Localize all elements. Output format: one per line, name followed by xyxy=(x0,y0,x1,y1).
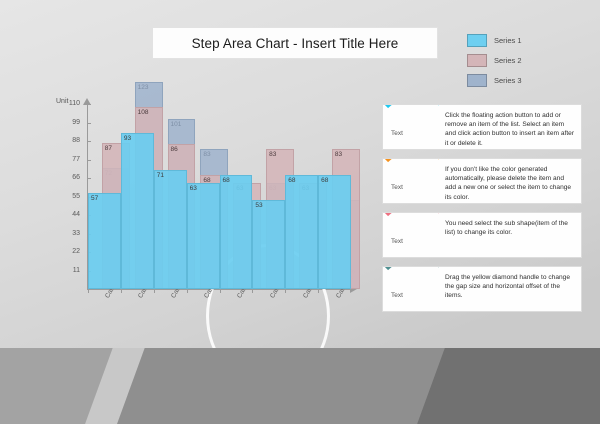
y-tick-label: 33 xyxy=(56,230,80,237)
x-tick-mark xyxy=(88,289,89,293)
chart-title-box[interactable]: Step Area Chart - Insert Title Here xyxy=(152,27,438,59)
chart-legend: Series 1Series 2Series 3 xyxy=(467,34,587,94)
legend-item-2[interactable]: Series 2 xyxy=(467,54,587,67)
y-tick-label: 44 xyxy=(56,211,80,218)
data-label: 123 xyxy=(138,84,149,92)
slide-canvas: Step Area Chart - Insert Title Here Seri… xyxy=(0,0,600,424)
data-label: 63 xyxy=(190,185,197,193)
legend-item-3[interactable]: Series 3 xyxy=(467,74,587,87)
legend-label: Series 3 xyxy=(494,76,522,85)
y-tick-label: 99 xyxy=(56,119,80,126)
area-segment[interactable]: 68 xyxy=(285,175,318,289)
road-band-3 xyxy=(105,348,452,424)
y-tick-label: 88 xyxy=(56,137,80,144)
x-tick-mark xyxy=(252,289,253,293)
callout-card-1[interactable]: TextClick the floating action button to … xyxy=(382,104,582,150)
legend-item-1[interactable]: Series 1 xyxy=(467,34,587,47)
callout-badge-label: Text xyxy=(391,238,403,245)
legend-swatch-icon xyxy=(467,34,487,47)
data-label: 86 xyxy=(171,146,178,154)
callout-text: Drag the yellow diamond handle to change… xyxy=(445,273,576,301)
callout-badge-label: Text xyxy=(391,292,403,299)
data-label: 57 xyxy=(91,195,98,203)
decorative-road-footer xyxy=(0,348,600,424)
step-area-chart[interactable]: Unit 112233445566778899110 6868536863719… xyxy=(56,100,356,295)
area-segment[interactable]: 57 xyxy=(88,193,121,289)
area-segment[interactable]: 68 xyxy=(220,175,253,289)
data-label: 87 xyxy=(105,145,112,153)
x-tick-mark xyxy=(121,289,122,293)
callout-arc-icon xyxy=(383,159,439,203)
legend-swatch-icon xyxy=(467,74,487,87)
data-label: 68 xyxy=(223,177,230,185)
data-label: 108 xyxy=(138,109,149,117)
y-tick-label: 22 xyxy=(56,248,80,255)
callout-badge-label: Text xyxy=(391,184,403,191)
callout-card-2[interactable]: TextIf you don't like the color generate… xyxy=(382,158,582,204)
page-title: Step Area Chart - Insert Title Here xyxy=(192,36,399,51)
data-label: 83 xyxy=(335,151,342,159)
callout-arc-icon xyxy=(383,105,439,149)
callout-arc-icon xyxy=(383,267,439,311)
x-tick-mark xyxy=(318,289,319,293)
callout-card-4[interactable]: TextDrag the yellow diamond handle to ch… xyxy=(382,266,582,312)
y-tick-label: 55 xyxy=(56,193,80,200)
callout-card-3[interactable]: TextYou need select the sub shape(item o… xyxy=(382,212,582,258)
legend-label: Series 1 xyxy=(494,36,522,45)
legend-swatch-icon xyxy=(467,54,487,67)
data-label: 71 xyxy=(157,172,164,180)
y-tick-label: 110 xyxy=(56,100,80,107)
x-tick-mark xyxy=(285,289,286,293)
area-segment[interactable]: 93 xyxy=(121,133,154,289)
area-segment[interactable]: 68 xyxy=(318,175,351,289)
y-tick-label: 11 xyxy=(56,267,80,274)
data-label: 68 xyxy=(288,177,295,185)
legend-label: Series 2 xyxy=(494,56,522,65)
data-label: 93 xyxy=(124,135,131,143)
plot-area[interactable]: 6868536863719357836383636886108875353635… xyxy=(88,104,351,289)
area-segment[interactable]: 71 xyxy=(154,170,187,289)
callout-list: TextClick the floating action button to … xyxy=(382,104,582,320)
x-tick-mark xyxy=(187,289,188,293)
data-label: 83 xyxy=(269,151,276,159)
callout-badge-label: Text xyxy=(391,130,403,137)
y-tick-label: 66 xyxy=(56,174,80,181)
callout-arc-icon xyxy=(383,213,439,257)
callout-text: You need select the sub shape(item of th… xyxy=(445,219,576,237)
data-label: 101 xyxy=(171,121,182,129)
x-tick-mark xyxy=(154,289,155,293)
data-label: 68 xyxy=(321,177,328,185)
area-segment[interactable]: 53 xyxy=(252,200,285,289)
callout-text: If you don't like the color generated au… xyxy=(445,165,576,202)
data-label: 53 xyxy=(255,202,262,210)
y-tick-label: 77 xyxy=(56,156,80,163)
x-tick-mark xyxy=(220,289,221,293)
area-segment[interactable]: 63 xyxy=(187,183,220,289)
data-label: 83 xyxy=(203,151,210,159)
callout-text: Click the floating action button to add … xyxy=(445,111,576,148)
